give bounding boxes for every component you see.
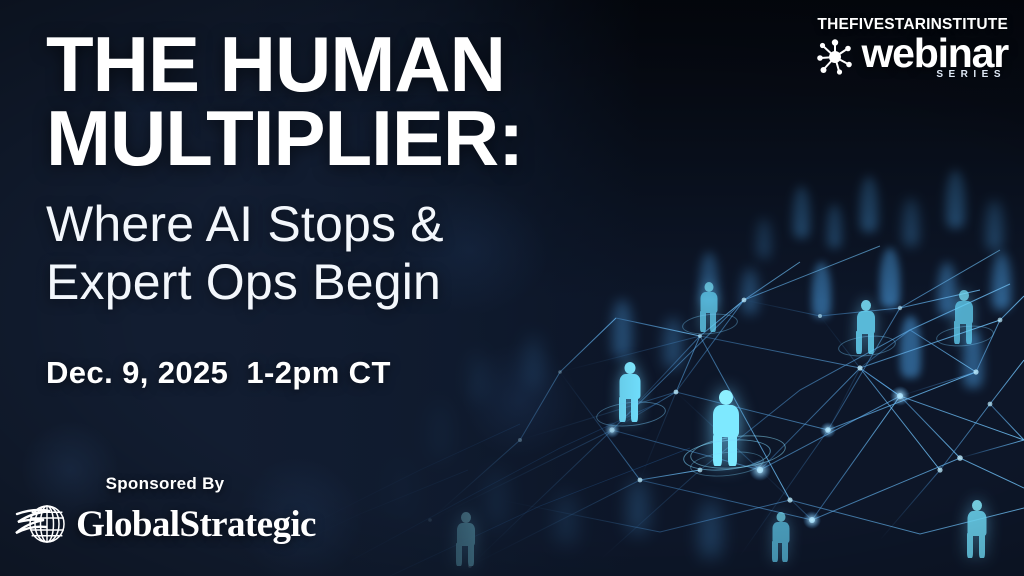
sponsored-by-label: Sponsored By (0, 474, 330, 494)
subtitle-line-2: Expert Ops Begin (46, 253, 646, 311)
page-title: THE HUMAN MULTIPLIER: (46, 27, 646, 175)
headline-line-2: MULTIPLIER: (46, 101, 646, 175)
brand-lockup[interactable]: THEFIVESTARINSTITUTE (815, 16, 1008, 80)
network-hub-icon (815, 37, 855, 77)
sponsor-block: Sponsored By GlobalStrategic (0, 474, 330, 550)
webinar-promo-banner: THE HUMAN MULTIPLIER: Where AI Stops & E… (0, 0, 1024, 576)
headline-line-1: THE HUMAN (46, 27, 646, 101)
page-subtitle: Where AI Stops & Expert Ops Begin (46, 195, 646, 311)
subtitle-line-1: Where AI Stops & (46, 195, 646, 253)
globe-icon (14, 498, 76, 550)
brand-product-row: webinar SERIES (815, 35, 1008, 80)
sponsor-name: GlobalStrategic (76, 503, 316, 546)
brand-product-label: webinar (861, 35, 1008, 73)
event-date-time: Dec. 9, 2025 1-2pm CT (46, 355, 646, 391)
sponsor-logo[interactable]: GlobalStrategic (0, 498, 330, 550)
